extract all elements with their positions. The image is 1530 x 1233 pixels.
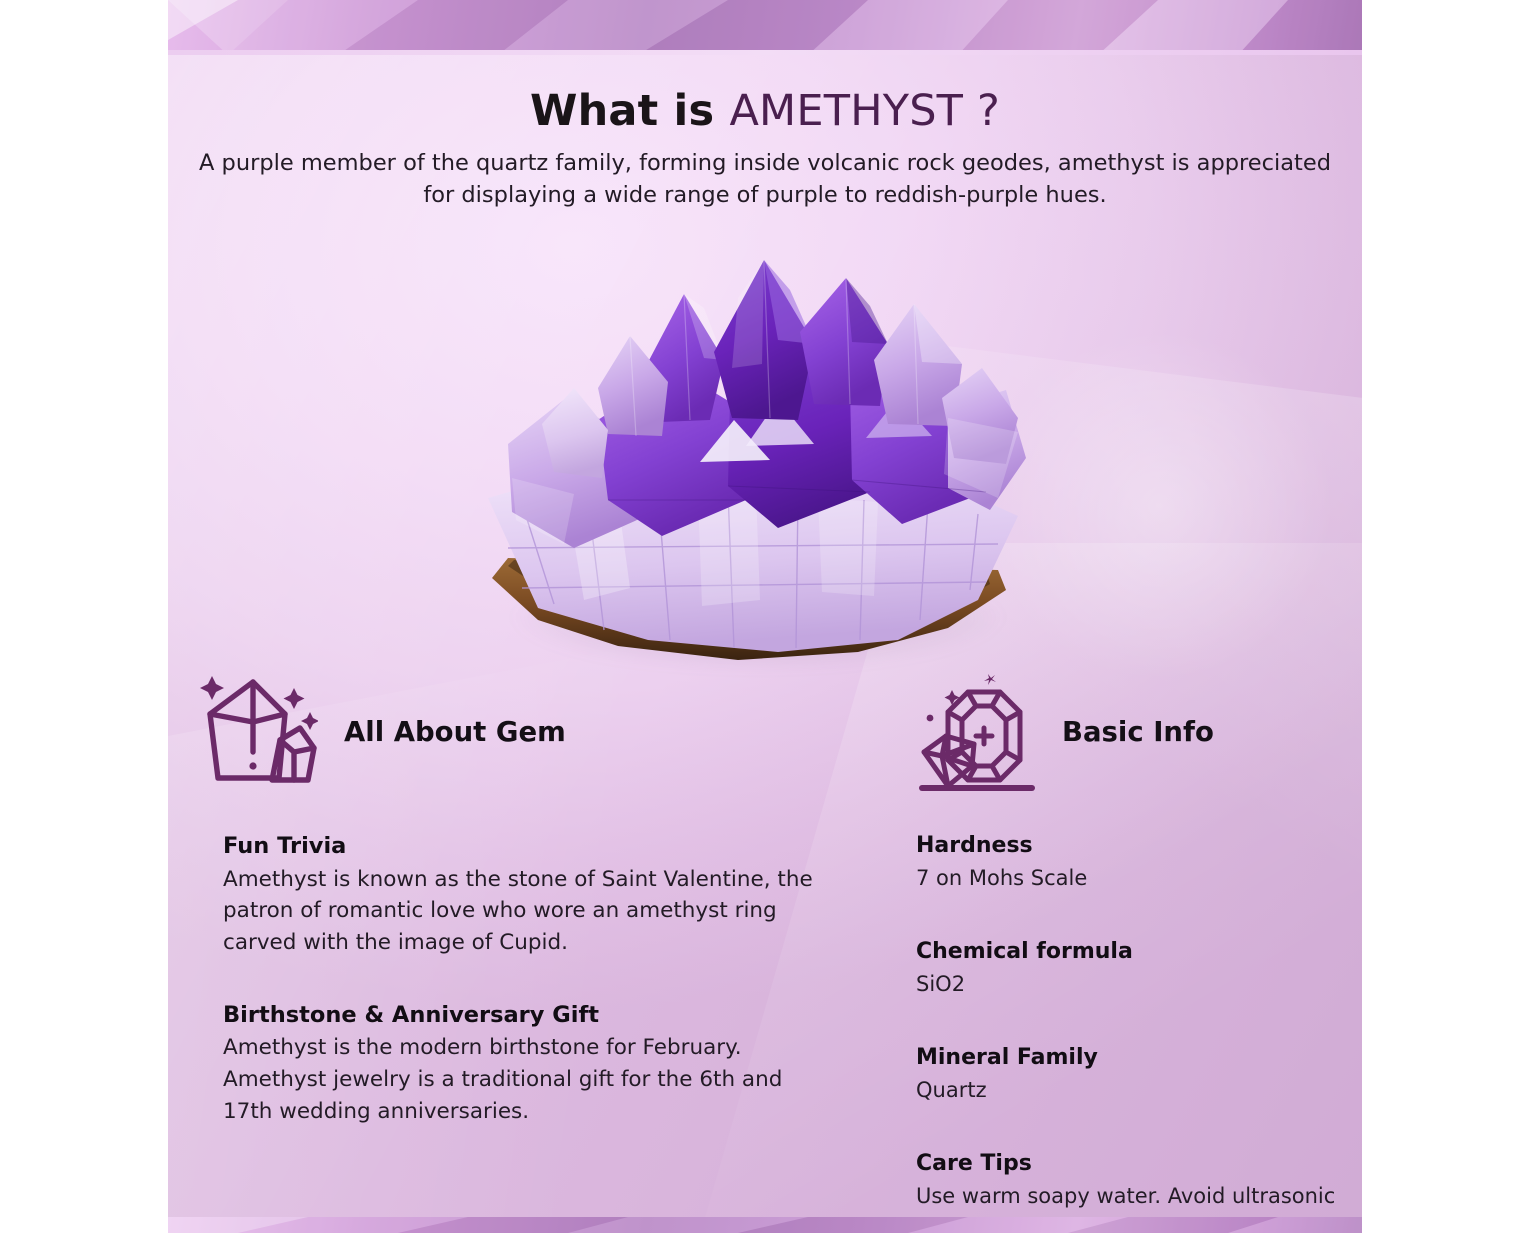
page-title-plain: What is [530, 86, 730, 136]
info-block: Mineral Family Quartz [916, 1044, 1356, 1106]
info-block-body: Amethyst is the modern birthstone for Fe… [223, 1032, 823, 1127]
band-bottom-edge [168, 50, 1362, 55]
info-block-title: Birthstone & Anniversary Gift [223, 1001, 823, 1030]
info-block-body: SiO2 [916, 969, 1356, 1000]
info-block-body: Amethyst is known as the stone of Saint … [223, 864, 823, 959]
info-block-body: 7 on Mohs Scale [916, 863, 1356, 894]
info-block-title: Care Tips [916, 1150, 1356, 1178]
info-block: Fun Trivia Amethyst is known as the ston… [223, 832, 823, 959]
band-triangles-bottom [168, 1217, 1362, 1233]
page-title-accent: AMETHYST ? [729, 86, 1000, 136]
crystal-cluster-icon [196, 668, 318, 796]
section-header-all-about-gem: All About Gem [196, 668, 566, 796]
band-triangles-top [168, 0, 1362, 55]
info-block-title: Hardness [916, 832, 1356, 860]
infographic-page: What is AMETHYST ? A purple member of th… [0, 0, 1530, 1233]
info-block-body: Quartz [916, 1075, 1356, 1106]
section-heading-label: All About Gem [344, 716, 566, 748]
bottom-decorative-band [168, 1217, 1362, 1233]
info-block: Hardness 7 on Mohs Scale [916, 832, 1356, 894]
infographic-card: What is AMETHYST ? A purple member of th… [168, 0, 1362, 1233]
section-header-basic-info: Basic Info [916, 668, 1214, 796]
section-heading-label: Basic Info [1062, 716, 1214, 748]
info-block: Birthstone & Anniversary Gift Amethyst i… [223, 1001, 823, 1128]
info-block-title: Fun Trivia [223, 832, 823, 861]
page-title: What is AMETHYST ? [168, 86, 1362, 136]
info-block-title: Mineral Family [916, 1044, 1356, 1072]
top-decorative-band [168, 0, 1362, 55]
gemstones-icon [916, 668, 1036, 796]
content-column-basic-info: Hardness 7 on Mohs Scale Chemical formul… [916, 832, 1356, 1233]
amethyst-geode-image [478, 248, 1038, 668]
amethyst-geode-illustration [478, 248, 1038, 668]
page-subtitle: A purple member of the quartz family, fo… [168, 148, 1362, 212]
info-block: Chemical formula SiO2 [916, 938, 1356, 1000]
content-column-all-about-gem: Fun Trivia Amethyst is known as the ston… [223, 832, 823, 1127]
info-block-title: Chemical formula [916, 938, 1356, 966]
